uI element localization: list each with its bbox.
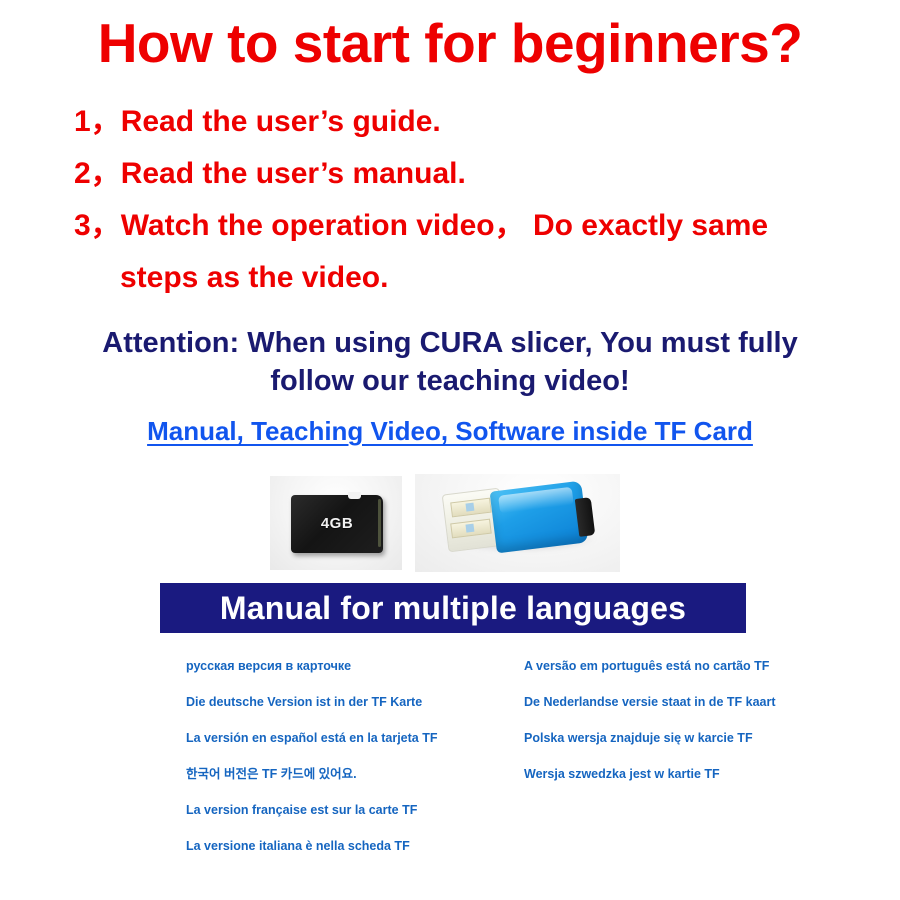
steps-list: 1，Read the user’s guide. 2，Read the user… [74, 96, 874, 304]
list-item: 1，Read the user’s guide. [74, 96, 874, 148]
list-item: La versión en español está en la tarjeta… [186, 720, 486, 756]
page-title: How to start for beginners? [0, 14, 900, 73]
card-reader-end-cap [575, 497, 596, 537]
promo-page: How to start for beginners? 1，Read the u… [0, 0, 900, 900]
step-number: 3， [74, 200, 121, 252]
multilanguage-banner: Manual for multiple languages [160, 583, 746, 633]
microsd-card-photo: 4GB [270, 476, 402, 570]
language-column-right: A versão em português está no cartão TF … [524, 648, 824, 792]
step-text: Read the user’s manual. [121, 157, 466, 190]
microsd-capacity-label: 4GB [291, 515, 383, 532]
microsd-card-body: 4GB [291, 495, 383, 553]
list-item: A versão em português está no cartão TF [524, 648, 824, 684]
step-text: Read the user’s guide. [121, 105, 441, 138]
list-item: De Nederlandse versie staat in de TF kaa… [524, 684, 824, 720]
language-list: русская версия в карточке Die deutsche V… [160, 648, 780, 878]
language-column-left: русская версия в карточке Die deutsche V… [186, 648, 486, 864]
step-number: 1， [74, 96, 121, 148]
tf-card-contents-link-row: Manual, Teaching Video, Software inside … [0, 416, 900, 447]
list-item: Wersja szwedzka jest w kartie TF [524, 756, 824, 792]
attention-line-2: follow our teaching video! [0, 362, 900, 400]
list-item: 3，Watch the operation video， Do exactly … [74, 200, 874, 252]
card-reader-blue-body [490, 481, 589, 554]
step-text-continuation: steps as the video. [74, 252, 874, 304]
list-item: La versione italiana è nella scheda TF [186, 828, 486, 864]
attention-notice: Attention: When using CURA slicer, You m… [0, 324, 900, 400]
list-item: 2，Read the user’s manual. [74, 148, 874, 200]
list-item: La version française est sur la carte TF [186, 792, 486, 828]
list-item: Die deutsche Version ist in der TF Karte [186, 684, 486, 720]
attention-line-1: Attention: When using CURA slicer, You m… [0, 324, 900, 362]
usb-card-reader-photo [415, 474, 620, 572]
step-text: Watch the operation video， Do exactly sa… [121, 209, 768, 242]
multilanguage-banner-title: Manual for multiple languages [220, 590, 686, 627]
product-photos: 4GB [0, 474, 900, 574]
list-item: Polska wersja znajduje się w karcie TF [524, 720, 824, 756]
list-item: русская версия в карточке [186, 648, 486, 684]
step-number: 2， [74, 148, 121, 200]
list-item: 한국어 버전은 TF 카드에 있어요. [186, 756, 486, 792]
tf-card-contents-link[interactable]: Manual, Teaching Video, Software inside … [147, 416, 753, 447]
